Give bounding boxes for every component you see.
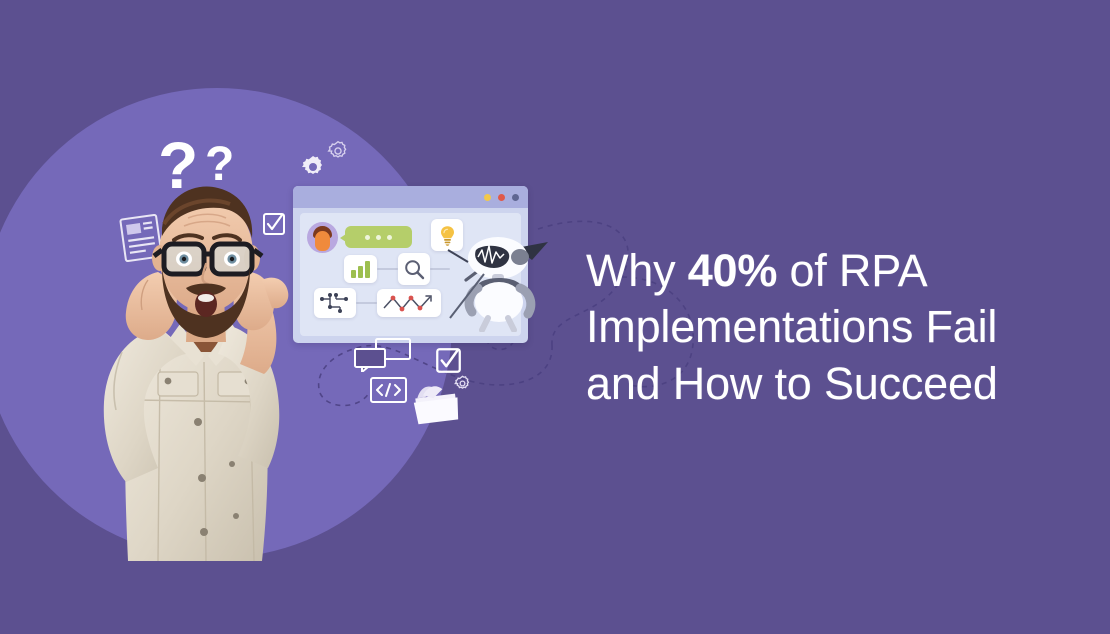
headline-line1-post: of RPA [777, 245, 927, 296]
headline-line-1: Why 40% of RPA [586, 243, 1086, 299]
chat-bubble [345, 226, 412, 248]
gear-small-icon [327, 140, 349, 162]
zigzag-line-chart-icon [382, 293, 436, 313]
robot-connector-lines [440, 240, 520, 330]
confused-man-photo [62, 176, 327, 561]
minimize-dot[interactable] [484, 194, 491, 201]
chat-bubble-dot [376, 235, 381, 240]
trend-tile[interactable] [377, 289, 441, 317]
checkbox-checked-bottom-icon [435, 347, 462, 374]
headline-line-3: and How to Succeed [586, 356, 1086, 412]
page-title: Why 40% of RPA Implementations Fail and … [586, 243, 1086, 412]
code-brackets-icon [370, 377, 407, 403]
headline-line-2: Implementations Fail [586, 299, 1086, 355]
headline-stat: 40% [688, 245, 777, 296]
chat-bubble-dot [365, 235, 370, 240]
chat-bubble-dot [387, 235, 392, 240]
chat-bubbles-icon [354, 338, 412, 372]
connector-bars-to-search [377, 268, 398, 270]
browser-title-bar [293, 186, 528, 208]
search-tile[interactable] [398, 253, 430, 285]
connector-flow-to-trend [356, 302, 377, 304]
analytics-tile[interactable] [344, 255, 377, 283]
magnifier-icon [404, 259, 425, 280]
maximize-dot[interactable] [512, 194, 519, 201]
close-dot[interactable] [498, 194, 505, 201]
folder-icon [410, 379, 463, 427]
bar-chart-icon [350, 261, 371, 278]
headline-line1-pre: Why [586, 245, 688, 296]
banner-stage: ? ? [0, 0, 1110, 634]
